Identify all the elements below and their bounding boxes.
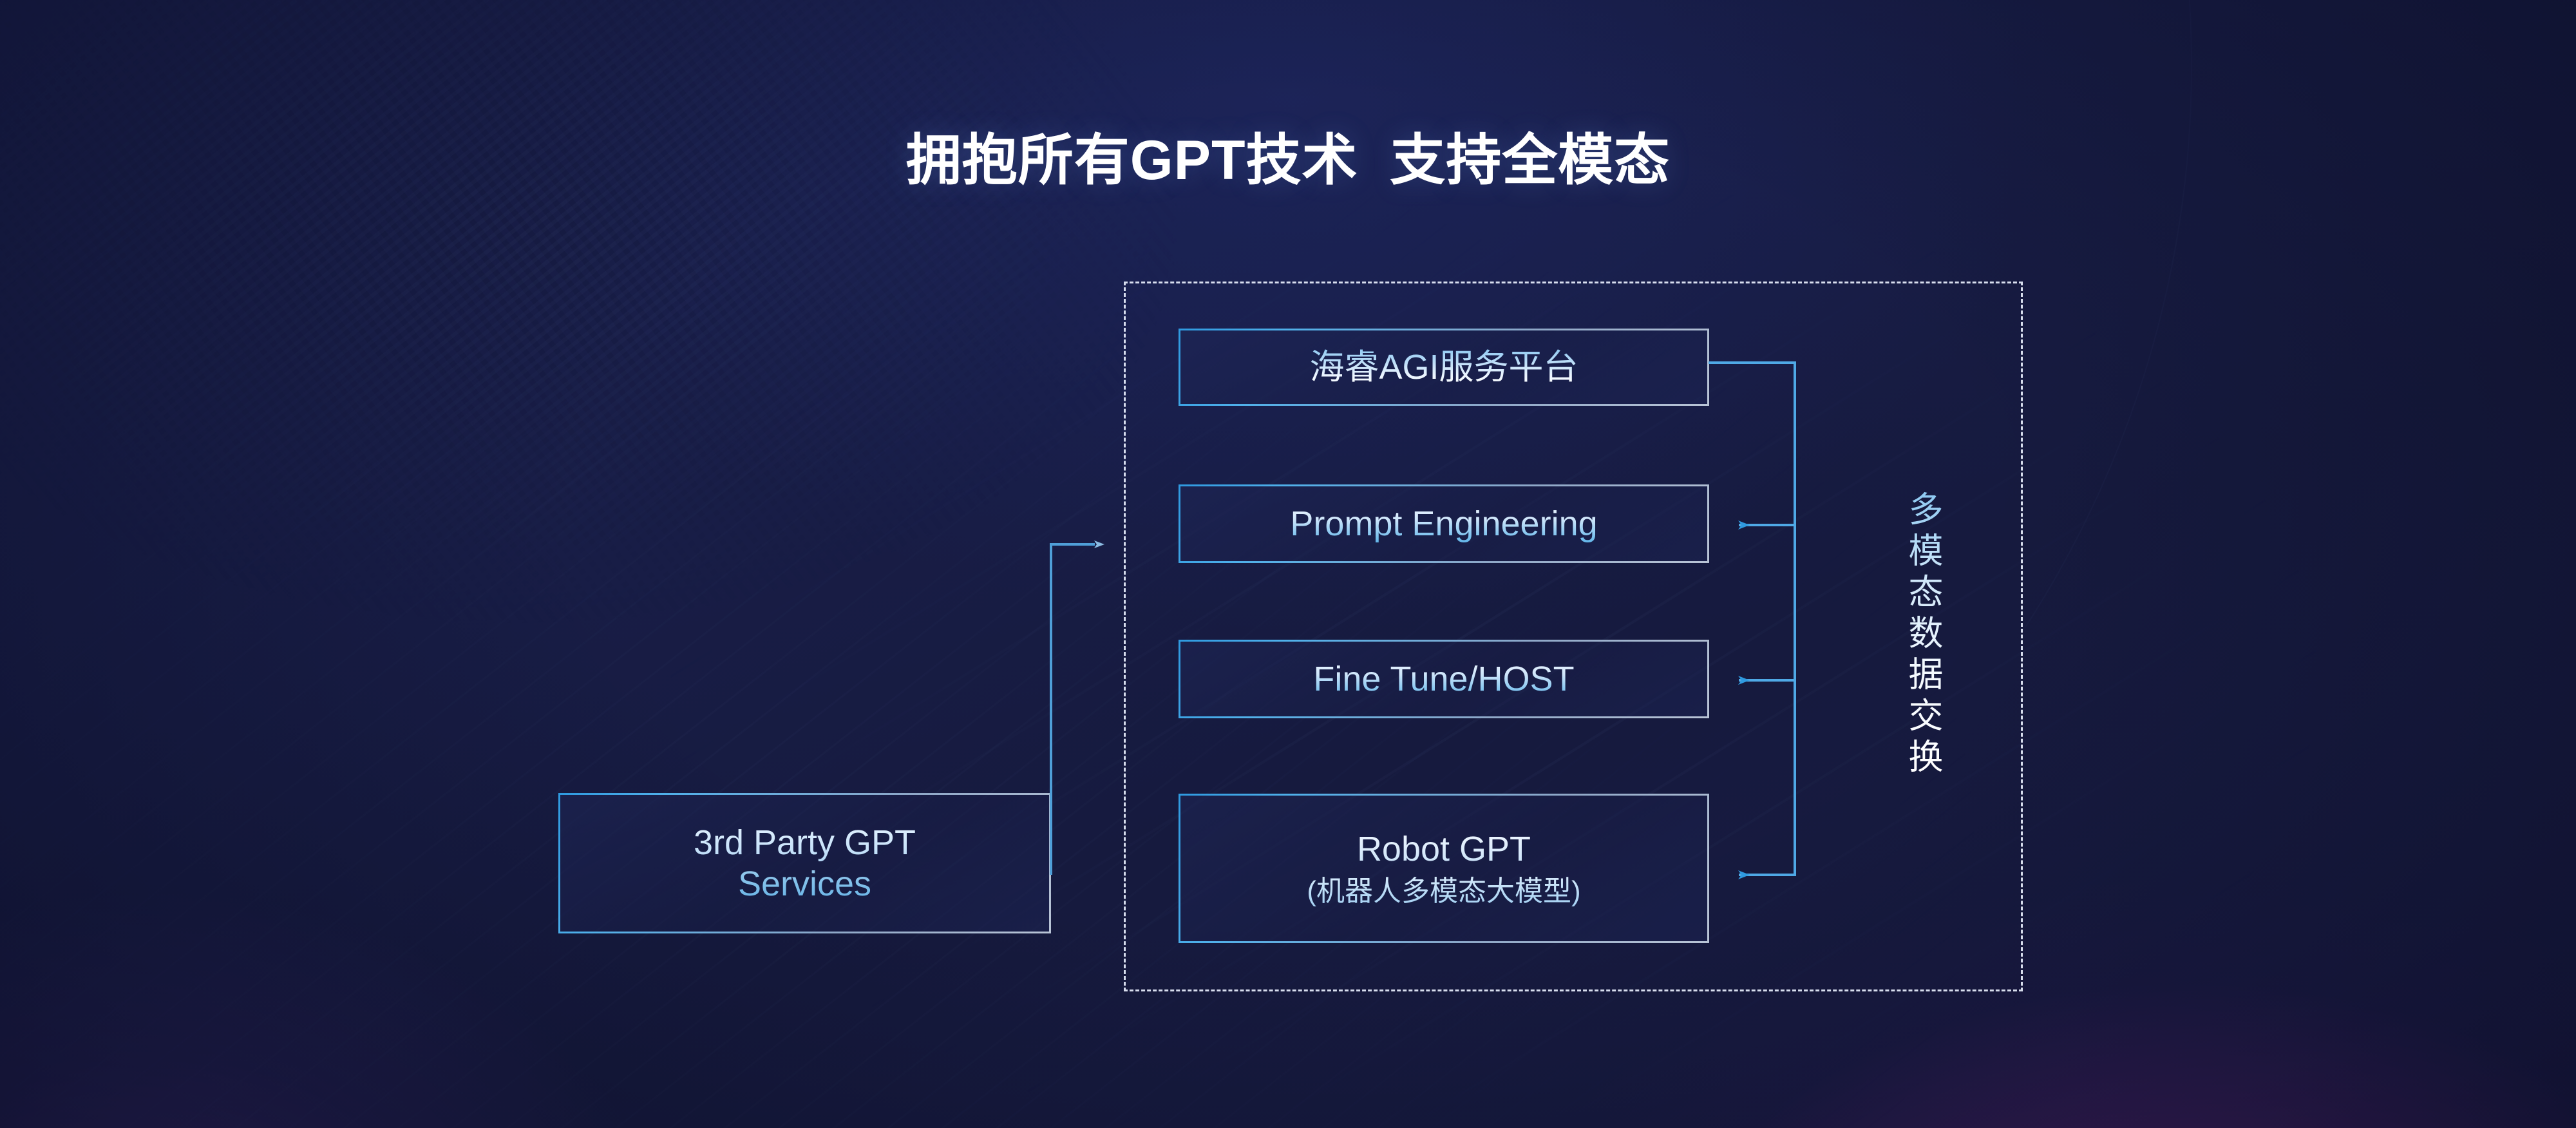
node-label: Fine Tune/HOST (1313, 660, 1574, 698)
node-sublabel: (机器人多模态大模型) (1307, 875, 1580, 907)
data-bus-label: 多模态数据交换 (1903, 491, 1948, 779)
node-label: 海睿AGI服务平台 (1309, 348, 1578, 387)
slide-canvas: 拥抱所有GPT技术 支持全模态 海睿AGI服务平台 Prompt Enginee… (0, 0, 2576, 1128)
node-third-party-gpt-services[interactable]: 3rd Party GPT Services (558, 793, 1051, 933)
node-label: Prompt Engineering (1290, 504, 1597, 543)
node-label: Robot GPT (1357, 830, 1531, 868)
slide-title: 拥抱所有GPT技术 支持全模态 (0, 115, 2576, 195)
node-robot-gpt[interactable]: Robot GPT (机器人多模态大模型) (1179, 794, 1709, 943)
node-fine-tune-host[interactable]: Fine Tune/HOST (1179, 640, 1709, 718)
node-prompt-engineering[interactable]: Prompt Engineering (1179, 484, 1709, 563)
node-label: 3rd Party GPT (694, 823, 916, 862)
node-hairui-agi-platform[interactable]: 海睿AGI服务平台 (1179, 329, 1709, 406)
node-sublabel: Services (738, 865, 871, 903)
